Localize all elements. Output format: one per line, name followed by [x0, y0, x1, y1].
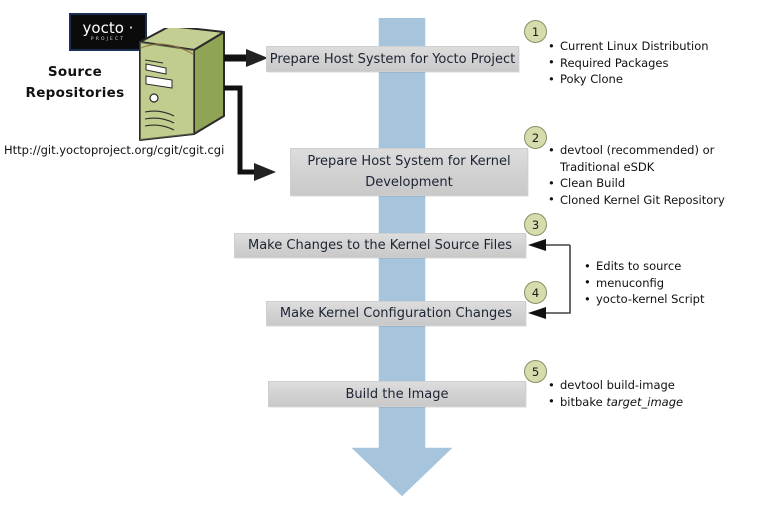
list-item-argument: target_image: [606, 395, 683, 409]
list-item: menuconfig: [584, 275, 705, 292]
process-box-step-1[interactable]: Prepare Host System for Yocto Project: [266, 46, 519, 72]
process-box-step-2-label: Prepare Host System for Kernel Developme…: [291, 151, 527, 193]
list-item: devtool build-image: [548, 377, 683, 394]
step-number-circle-5: 5: [524, 360, 547, 383]
source-label-line-1: Source: [10, 62, 140, 83]
process-box-step-5-label: Build the Image: [346, 385, 449, 404]
step-number-2: 2: [532, 131, 539, 145]
list-item: Current Linux Distribution: [548, 38, 709, 55]
step-number-circle-1: 1: [524, 20, 547, 43]
step-number-circle-4: 4: [524, 281, 547, 304]
list-item: Clean Build: [548, 175, 725, 192]
server-tower-icon: [136, 28, 228, 142]
process-box-step-1-label: Prepare Host System for Yocto Project: [270, 50, 515, 69]
process-box-step-3[interactable]: Make Changes to the Kernel Source Files: [234, 233, 526, 258]
process-box-step-4-label: Make Kernel Configuration Changes: [280, 304, 512, 323]
step-number-4: 4: [532, 286, 539, 300]
list-item: Required Packages: [548, 55, 709, 72]
step-number-5: 5: [532, 365, 539, 379]
process-box-step-5[interactable]: Build the Image: [268, 381, 526, 407]
logo-subtitle: PROJECT: [91, 38, 125, 43]
logo-wordmark: yocto ·: [83, 21, 134, 36]
step-1-bullet-list: Current Linux Distribution Required Pack…: [548, 38, 709, 88]
source-label-line-2: Repositories: [10, 83, 140, 104]
list-item: yocto-kernel Script: [584, 291, 705, 308]
diagram-canvas: yocto · PROJECT Source Repositories Http…: [0, 0, 769, 517]
list-item-continuation: Traditional eSDK: [548, 159, 725, 176]
list-item-command: bitbake: [560, 395, 606, 409]
source-repository-url: Http://git.yoctoproject.org/cgit/cgit.cg…: [4, 143, 224, 157]
process-box-step-4[interactable]: Make Kernel Configuration Changes: [266, 301, 526, 326]
source-repositories-label: Source Repositories: [10, 62, 140, 104]
step-number-1: 1: [532, 25, 539, 39]
step-2-bullet-list: devtool (recommended) or Traditional eSD…: [548, 142, 725, 208]
step-number-circle-3: 3: [524, 213, 547, 236]
list-item: bitbake target_image: [548, 394, 683, 411]
process-box-step-3-label: Make Changes to the Kernel Source Files: [248, 236, 512, 255]
list-item: devtool (recommended) or: [548, 142, 725, 159]
step-number-3: 3: [532, 218, 539, 232]
step-number-circle-2: 2: [524, 126, 547, 149]
list-item: Cloned Kernel Git Repository: [548, 192, 725, 209]
process-box-step-2[interactable]: Prepare Host System for Kernel Developme…: [290, 148, 528, 196]
list-item: Edits to source: [584, 258, 705, 275]
steps-3-4-bullet-list: Edits to source menuconfig yocto-kernel …: [584, 258, 705, 308]
list-item: Poky Clone: [548, 71, 709, 88]
step-5-bullet-list: devtool build-image bitbake target_image: [548, 377, 683, 410]
